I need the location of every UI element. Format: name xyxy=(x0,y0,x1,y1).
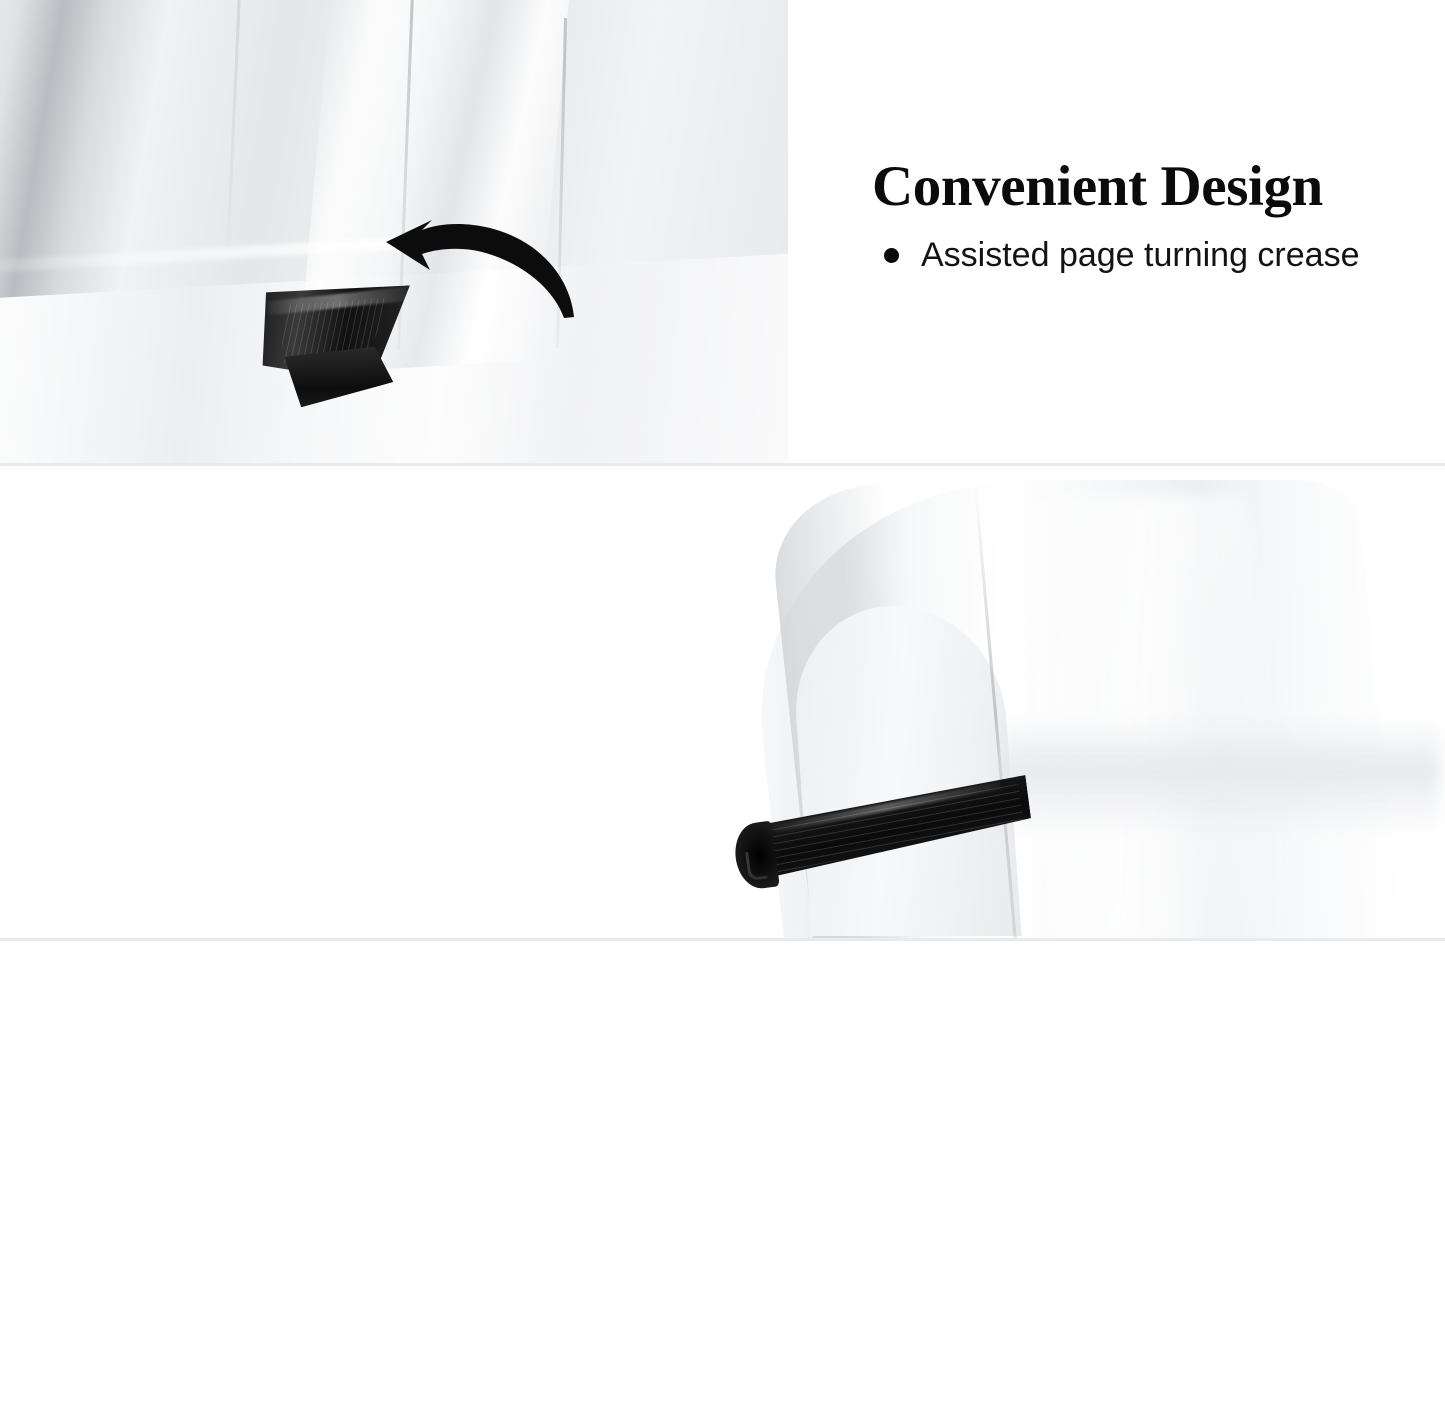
product-feature-infographic: Convenient Design Assisted page turning … xyxy=(0,0,1445,1407)
photo-translucent-pp-sheet-with-black-sliding-bar xyxy=(0,0,800,440)
feature-bullet-item: Assisted page turning crease xyxy=(884,236,1359,275)
feature-panel-reliable-pp-material: Reliable PP Material Free to bend withou… xyxy=(0,466,1445,939)
curved-arrow-left-icon xyxy=(378,214,578,319)
photo-bent-pp-sheet-arch xyxy=(700,466,1445,939)
feature-panel-convenient-design: Convenient Design Assisted page turning … xyxy=(0,0,1445,464)
bullet-dot-icon xyxy=(884,248,899,263)
sliding-bar-side-face xyxy=(284,346,394,408)
bullet-label: Assisted page turning crease xyxy=(921,236,1359,275)
feature-panel-premium-sliding-bar: Premium Sliding Bar 360° torsion without… xyxy=(0,941,1445,1407)
panel-heading: Convenient Design xyxy=(872,158,1359,216)
bent-pp-sheet-reflection-band xyxy=(1000,716,1440,836)
feature-text-convenient-design: Convenient Design Assisted page turning … xyxy=(872,158,1359,275)
